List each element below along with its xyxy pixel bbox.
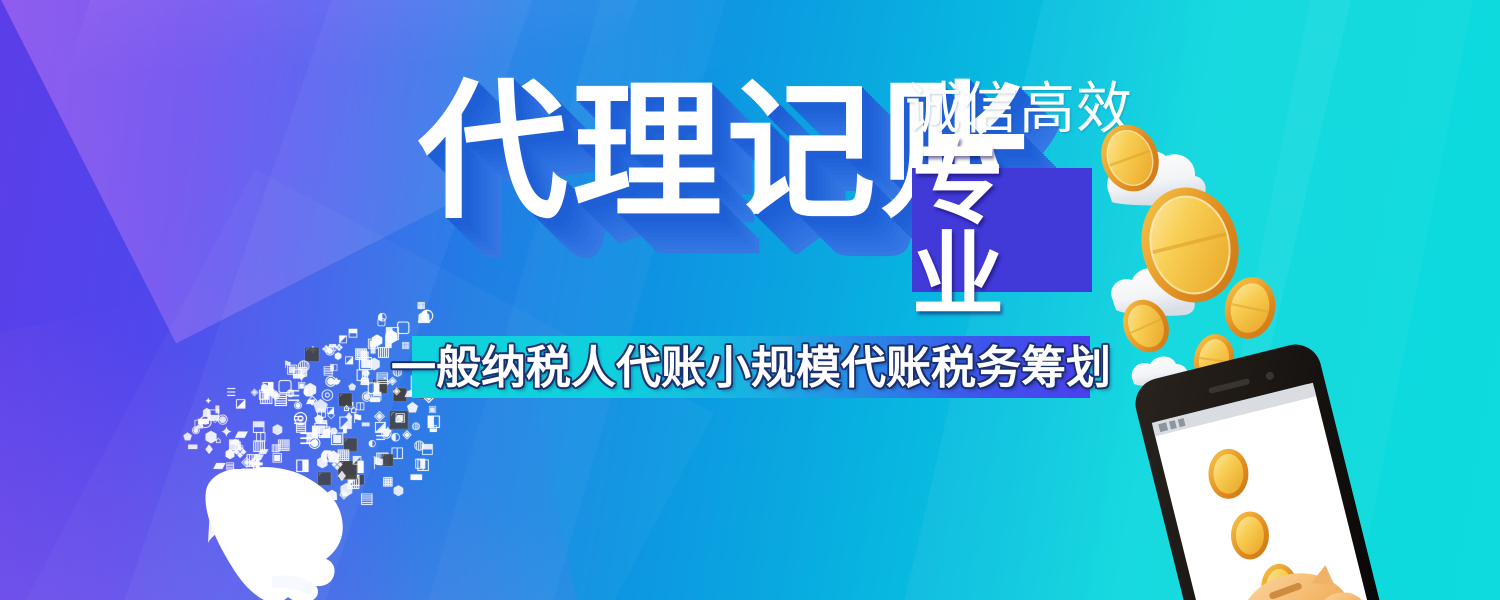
phone-icon: ▰ xyxy=(332,376,340,387)
credit-card-icon: ⌂ xyxy=(343,404,349,414)
dollar-coin-icon: ⬒ xyxy=(421,442,434,456)
status-badge: 专业 xyxy=(912,168,1092,292)
shopping-cart-icon: ♦ xyxy=(203,444,215,457)
monitor-icon: ⌂ xyxy=(215,437,221,446)
briefcase-icon: ◉ xyxy=(192,426,201,436)
key-icon: ☰ xyxy=(375,430,386,442)
user-icon: ☗ xyxy=(260,384,269,394)
water-drop-icon: ▥ xyxy=(377,345,390,359)
target-icon: ▰ xyxy=(235,426,248,443)
services-band-text: 一般纳税人代账 小规模代账 税务筹划 xyxy=(412,336,1090,398)
credit-card-icon: ▬ xyxy=(361,420,370,430)
briefcase-icon: ⬒ xyxy=(348,327,358,338)
bank-icon: ◩ xyxy=(352,454,362,465)
key-icon: ☗ xyxy=(202,407,212,418)
status-badge-label: 专业 xyxy=(912,138,1092,322)
megaphone-illustration: ▮▦◍◪⚑❖⬢❖❖✚◫⚑▢◉◐◎◧⬢✦▮▩✦▬◍◧⬣▤⬢⚑▰◈⬛◉▣❖▮◍◫⬛⬣… xyxy=(175,280,475,600)
phone-icon: ☰ xyxy=(299,431,313,447)
clipboard-icon: ◇ xyxy=(327,411,335,421)
hammer-icon: ⬢ xyxy=(393,485,404,498)
document-icon: ◐ xyxy=(420,307,434,323)
bank-icon: ▥ xyxy=(271,444,280,454)
dollar-coin-icon: ▢ xyxy=(377,318,386,328)
lock-icon: ⬟ xyxy=(407,402,418,415)
user-icon: ◍ xyxy=(412,422,421,432)
service-item-1: 一般纳税人代账 xyxy=(391,345,706,390)
chart-bar-icon: ▣ xyxy=(330,430,345,446)
service-item-2: 小规模代账 xyxy=(706,345,931,390)
hand-icon xyxy=(200,465,390,600)
lock-icon: ◫ xyxy=(416,457,430,472)
presentation-icon: ◪ xyxy=(235,397,246,409)
service-item-3: 税务筹划 xyxy=(931,345,1111,390)
monitor-icon: ◩ xyxy=(338,335,347,345)
water-drop-icon: ◇ xyxy=(212,416,219,425)
clipboard-icon: ⬢ xyxy=(272,424,283,437)
factory-icon: ◧ xyxy=(426,413,441,429)
calendar-icon: ⌂ xyxy=(395,412,403,424)
scales-icon: ◨ xyxy=(366,380,380,395)
building-icon: ☰ xyxy=(226,387,236,398)
coins-phone-illustration xyxy=(1090,110,1420,600)
smartphone-icon xyxy=(1130,339,1394,600)
chart-bar-icon: ◐ xyxy=(303,385,313,397)
lightbulb-icon: ▦ xyxy=(336,447,350,462)
calendar-icon: ▩ xyxy=(360,351,369,361)
promo-banner: ▮▦◍◪⚑❖⬢❖❖✚◫⚑▢◉◐◎◧⬢✦▮▩✦▬◍◧⬣▤⬢⚑▰◈⬛◉▣❖▮◍◫⬛⬣… xyxy=(0,0,1500,600)
calculator-icon: ▮ xyxy=(215,405,221,415)
handshake-icon: ◉ xyxy=(325,344,335,356)
target-icon: ⬢ xyxy=(334,353,342,362)
handshake-icon: ▣ xyxy=(286,363,298,376)
scales-icon: ☰ xyxy=(287,389,300,404)
handshake-icon: ◪ xyxy=(345,356,354,366)
lock-icon: ◫ xyxy=(255,430,266,442)
stopwatch-icon: ◈ xyxy=(251,388,259,398)
key-icon: ⬟ xyxy=(348,384,356,393)
